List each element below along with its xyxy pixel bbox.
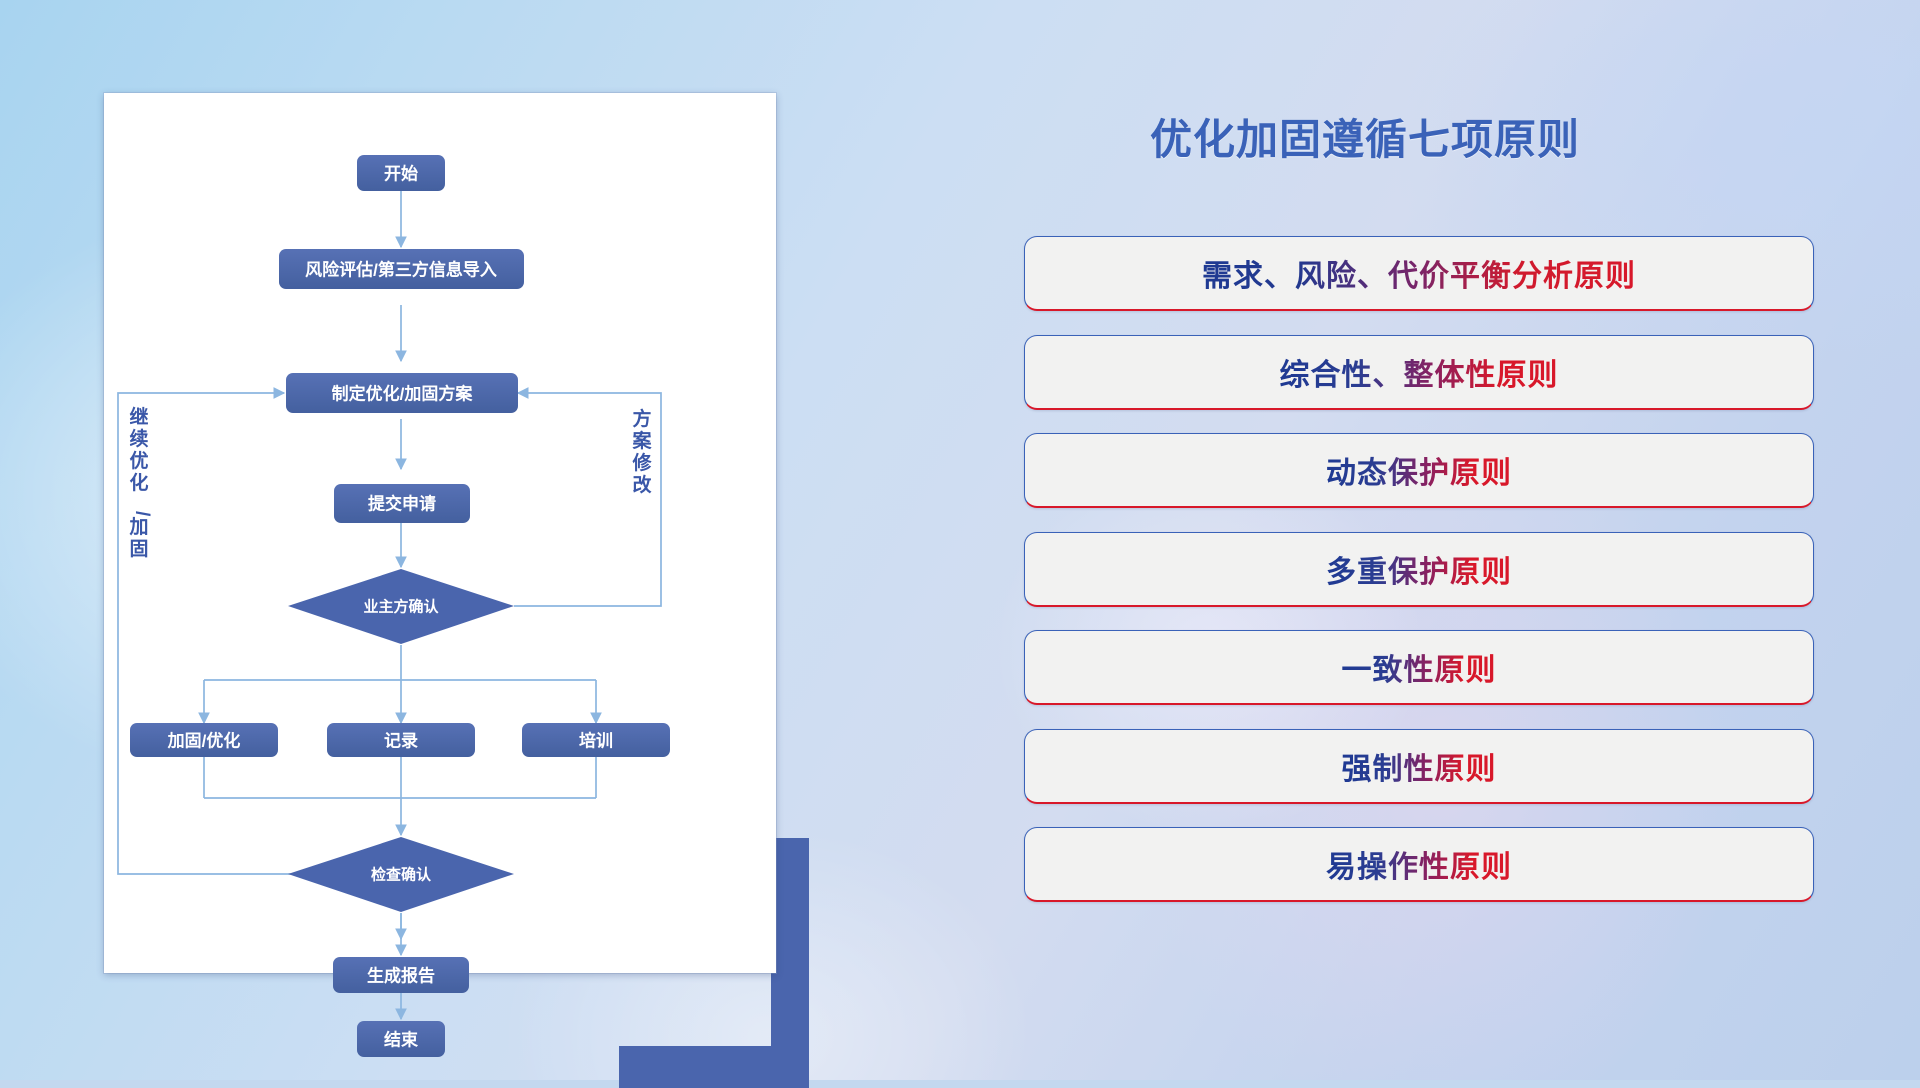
flow-node-record-label: 记录 xyxy=(384,732,418,751)
flowchart-tail: 生成报告 结束 xyxy=(104,931,776,1076)
flow-edge-label-right: 方案修改 xyxy=(631,407,653,496)
flow-edge-label-left: 继续优化/加固 xyxy=(128,405,152,560)
flow-node-risk-assessment[interactable]: 风险评估/第三方信息导入 xyxy=(279,249,524,289)
flow-node-reinforce-label: 加固/优化 xyxy=(167,731,241,751)
flow-node-submit-label: 提交申请 xyxy=(368,494,436,514)
principle-card-2-label: 综合性、整体性原则 xyxy=(1280,350,1559,394)
principle-card-1-label: 需求、风险、代价平衡分析原则 xyxy=(1202,251,1636,295)
flow-node-owner-confirm[interactable]: 业主方确认 xyxy=(288,569,514,644)
flow-node-training-label: 培训 xyxy=(579,731,613,751)
flow-node-owner-confirm-label: 业主方确认 xyxy=(363,598,439,616)
flow-node-end-box[interactable]: 结束 xyxy=(357,1021,445,1057)
principle-card-6[interactable]: 强制性原则 xyxy=(1024,729,1814,804)
flow-node-plan-label: 制定优化/加固方案 xyxy=(332,384,474,404)
principle-card-7-label: 易操作性原则 xyxy=(1326,842,1512,886)
flow-node-report-label: 生成报告 xyxy=(367,966,435,986)
flow-node-start[interactable]: 开始 xyxy=(357,155,445,191)
flow-node-end-label: 结束 xyxy=(384,1030,418,1050)
principle-card-1[interactable]: 需求、风险、代价平衡分析原则 xyxy=(1024,236,1814,311)
flow-node-submit[interactable]: 提交申请 xyxy=(334,484,470,523)
principle-card-4[interactable]: 多重保护原则 xyxy=(1024,532,1814,607)
principle-card-5[interactable]: 一致性原则 xyxy=(1024,630,1814,705)
flowchart-diagram: 开始 风险评估/第三方信息导入 制定优化/加固方案 提交申请 业主方确认 加固/… xyxy=(104,93,776,973)
principle-card-3[interactable]: 动态保护原则 xyxy=(1024,433,1814,508)
principles-card-list: 需求、风险、代价平衡分析原则 综合性、整体性原则 动态保护原则 多重保护原则 一… xyxy=(1024,236,1814,902)
flow-node-report-box[interactable]: 生成报告 xyxy=(333,957,469,993)
principle-card-6-label: 强制性原则 xyxy=(1342,744,1497,788)
flow-edge-label-right-text: 方案修改 xyxy=(631,407,653,496)
flow-node-reinforce[interactable]: 加固/优化 xyxy=(130,723,278,757)
flow-node-plan[interactable]: 制定优化/加固方案 xyxy=(286,373,518,413)
principles-panel: 优化加固遵循七项原则 需求、风险、代价平衡分析原则 综合性、整体性原则 动态保护… xyxy=(1010,86,1840,1006)
flow-node-record[interactable]: 记录 xyxy=(327,723,475,757)
flow-node-check-confirm[interactable]: 检查确认 xyxy=(288,837,514,912)
principle-card-3-label: 动态保护原则 xyxy=(1326,448,1512,492)
principle-card-4-label: 多重保护原则 xyxy=(1326,547,1512,591)
principle-card-5-label: 一致性原则 xyxy=(1342,645,1497,689)
flowchart-panel: 开始 风险评估/第三方信息导入 制定优化/加固方案 提交申请 业主方确认 加固/… xyxy=(104,93,786,978)
flow-edge-label-left-text: 继续优化/加固 xyxy=(128,405,152,560)
flow-node-check-confirm-label: 检查确认 xyxy=(371,866,432,884)
principle-card-7[interactable]: 易操作性原则 xyxy=(1024,827,1814,902)
flow-node-training[interactable]: 培训 xyxy=(522,723,670,757)
page-title: 优化加固遵循七项原则 xyxy=(1150,106,1580,167)
principle-card-2[interactable]: 综合性、整体性原则 xyxy=(1024,335,1814,410)
flow-node-start-label: 开始 xyxy=(384,164,418,184)
flow-node-risk-assessment-label: 风险评估/第三方信息导入 xyxy=(305,260,497,280)
